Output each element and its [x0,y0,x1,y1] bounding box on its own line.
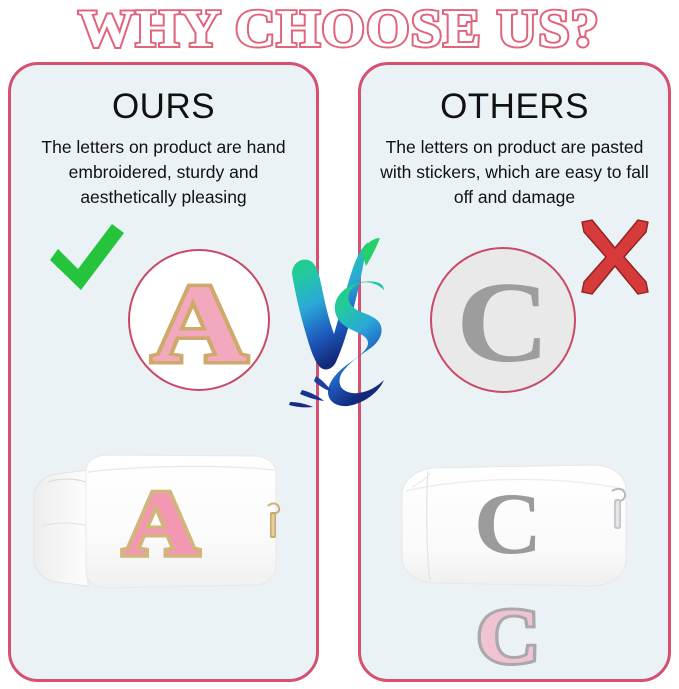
panel-ours-heading: OURS [11,87,316,127]
svg-text:A: A [123,473,199,575]
panel-others-heading: OTHERS [361,87,668,127]
svg-text:C: C [474,474,543,572]
badge-circle-others: C [430,247,576,393]
check-icon [48,222,126,300]
product-photo-others: C [396,455,636,595]
panel-others-description: The letters on product are pasted with s… [377,135,652,210]
vinyl-letter-sticker: C [456,265,550,381]
panel-ours-description: The letters on product are hand embroide… [27,135,300,210]
page-title-text: WHY CHOOSE US? [79,3,601,56]
badge-circle-ours: A [128,249,270,391]
page-title: WHY CHOOSE US? [0,0,679,58]
detached-letter-patch-glyph: C [476,597,539,675]
detached-letter-patch: C [470,596,546,676]
chenille-letter-patch: A [151,268,246,380]
comparison-infographic: WHY CHOOSE US? OURS The letters on produ… [0,0,679,689]
cross-icon [576,218,654,296]
product-photo-ours: A [30,448,292,598]
versus-icon [288,238,398,423]
